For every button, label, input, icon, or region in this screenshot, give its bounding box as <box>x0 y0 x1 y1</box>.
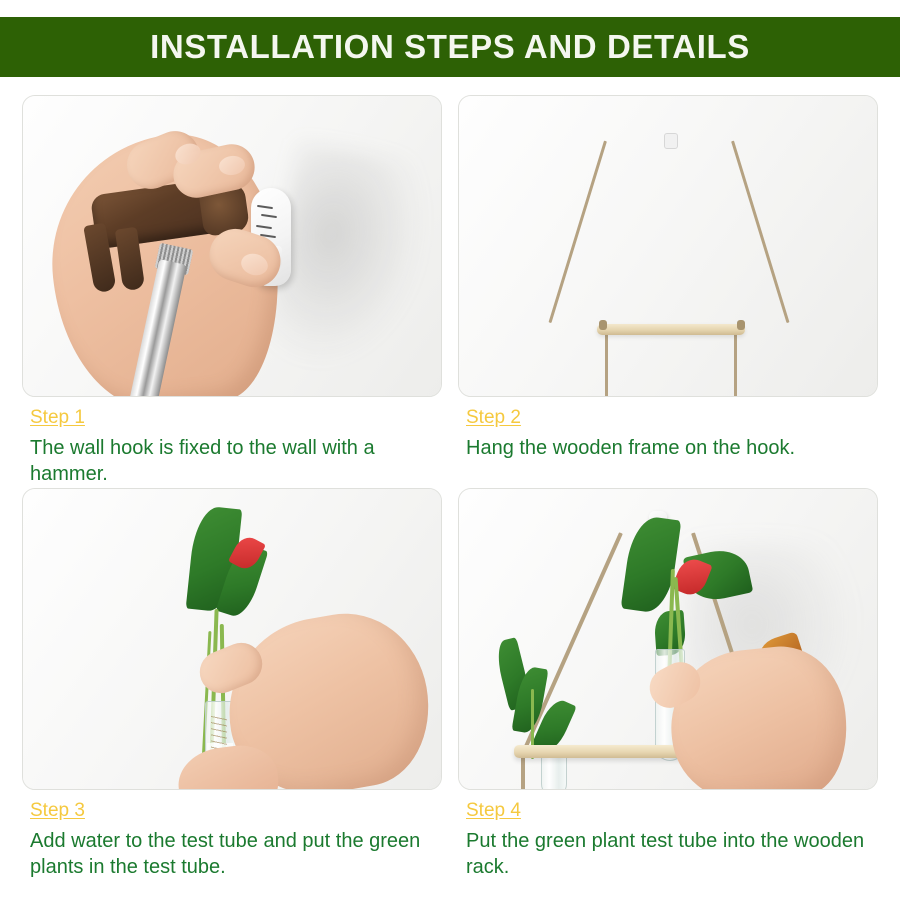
step-2-label: Step 2 <box>466 407 521 429</box>
step-card-1: Step 1 The wall hook is fixed to the wal… <box>22 95 442 488</box>
step-2-description: Hang the wooden frame on the hook. <box>466 435 876 461</box>
step-1-description: The wall hook is fixed to the wall with … <box>30 435 440 488</box>
step-1-label: Step 1 <box>30 407 85 429</box>
installation-steps-grid: Step 1 The wall hook is fixed to the wal… <box>0 95 900 900</box>
step-1-photo <box>22 95 442 397</box>
step-2-photo <box>458 95 878 397</box>
page-title: INSTALLATION STEPS AND DETAILS <box>150 28 750 66</box>
rope-knot <box>599 320 607 330</box>
step-3-label: Step 3 <box>30 800 85 822</box>
step-3-description: Add water to the test tube and put the g… <box>30 828 440 881</box>
step-4-label: Step 4 <box>466 800 521 822</box>
header-banner: INSTALLATION STEPS AND DETAILS <box>0 17 900 77</box>
rope-knot <box>737 320 745 330</box>
step-card-3: Step 3 Add water to the test tube and pu… <box>22 488 442 881</box>
step-card-2: Step 2 Hang the wooden frame on the hook… <box>458 95 878 461</box>
wall-hook-icon <box>664 133 678 149</box>
step-4-description: Put the green plant test tube into the w… <box>466 828 876 881</box>
step-3-photo <box>22 488 442 790</box>
step-4-photo <box>458 488 878 790</box>
wooden-dowel <box>597 324 745 335</box>
step-card-4: Step 4 Put the green plant test tube int… <box>458 488 878 881</box>
